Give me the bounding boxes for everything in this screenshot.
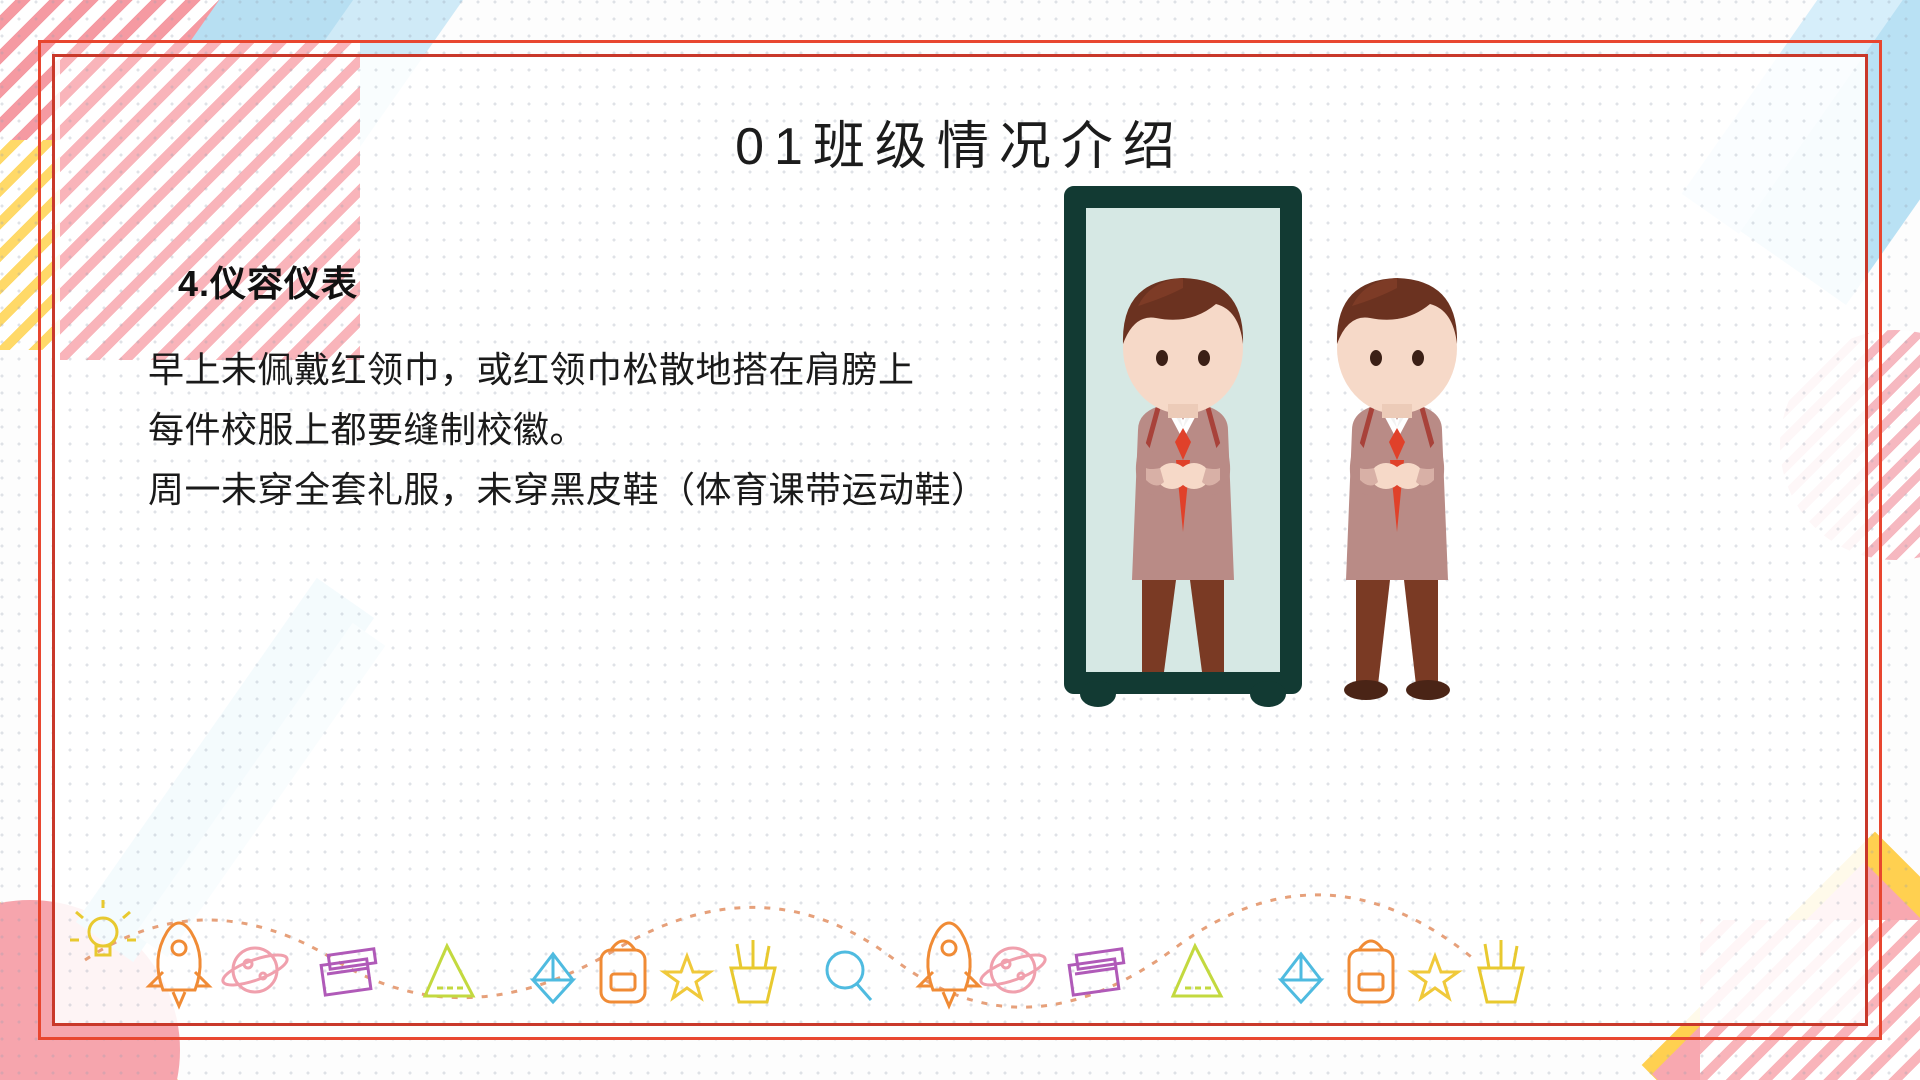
illustration-mirror-students <box>1060 180 1580 720</box>
backpack-icon <box>601 941 645 1002</box>
rocket-icon <box>149 923 209 1006</box>
dotted-path <box>85 895 1475 1007</box>
body-line-3: 周一未穿全套礼服，未穿黑皮鞋（体育课带运动鞋） <box>148 460 1098 520</box>
lightbulb-icon <box>70 900 136 955</box>
doodle-icon-row <box>55 840 1555 1020</box>
planet-icon <box>978 948 1049 992</box>
magnifier-icon <box>827 952 871 1000</box>
students-mirror-svg <box>1060 180 1580 720</box>
page-title: 01班级情况介绍 <box>0 104 1920 179</box>
rocket-icon <box>919 923 979 1006</box>
pencil-cup-icon <box>1479 940 1523 1002</box>
section-heading: 4.仪容仪表 <box>178 255 358 307</box>
doodle-icons-svg <box>55 840 1555 1020</box>
body-line-1: 早上未佩戴红领巾，或红领巾松散地搭在肩膀上 <box>148 340 1098 400</box>
triangle-ruler-icon <box>425 946 473 996</box>
slide-canvas: 01班级情况介绍 4.仪容仪表 早上未佩戴红领巾，或红领巾松散地搭在肩膀上 每件… <box>0 0 1920 1080</box>
student-figure <box>1337 278 1457 700</box>
pencil-cup-icon <box>731 940 775 1002</box>
books-icon <box>1069 949 1124 995</box>
backpack-icon <box>1349 941 1393 1002</box>
paper-boat-icon <box>1281 954 1321 1002</box>
standing-mirror <box>1072 194 1294 707</box>
star-icon <box>1412 956 1458 998</box>
body-line-2: 每件校服上都要缝制校徽。 <box>148 400 1098 460</box>
planet-icon <box>220 948 291 992</box>
books-icon <box>321 949 376 995</box>
star-icon <box>664 956 710 998</box>
paper-boat-icon <box>533 954 573 1002</box>
body-text-block: 早上未佩戴红领巾，或红领巾松散地搭在肩膀上 每件校服上都要缝制校徽。 周一未穿全… <box>148 340 1098 520</box>
triangle-ruler-icon <box>1173 946 1221 996</box>
